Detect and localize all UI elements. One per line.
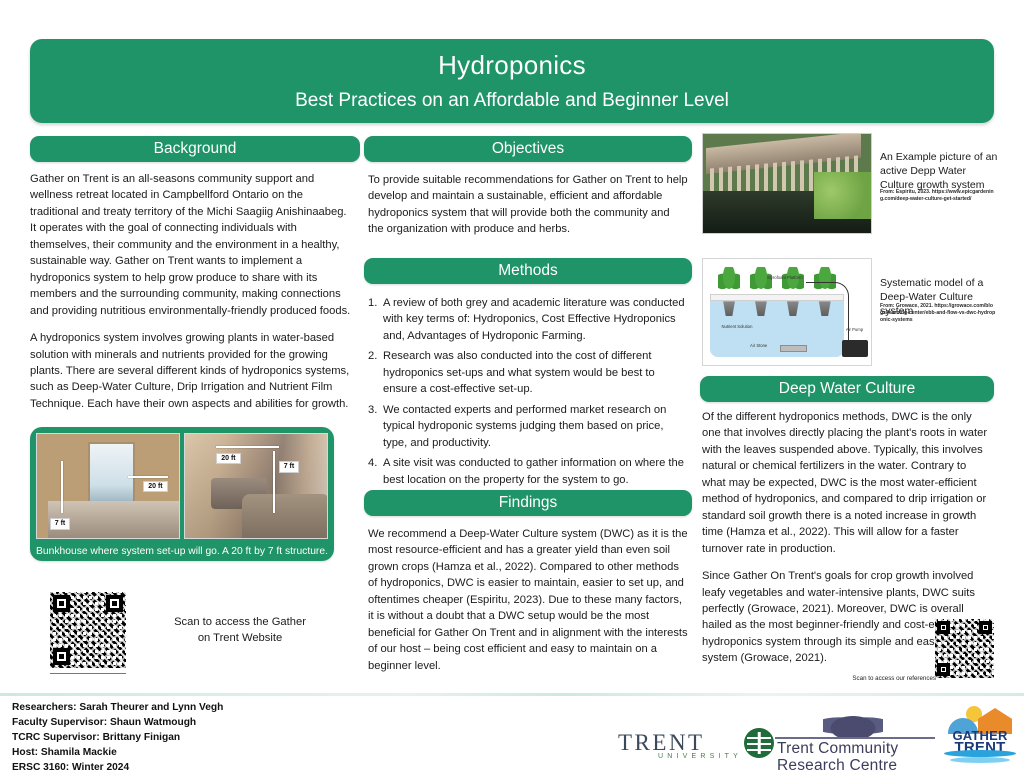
dimension-arrow-right-width: [216, 446, 278, 448]
methods-list-item: 1. A review of both grey and academic li…: [368, 295, 690, 344]
tcrc-divider: [775, 737, 935, 739]
methods-item-number: 1.: [368, 295, 377, 311]
poster-title-banner: Hydroponics Best Practices on an Afforda…: [30, 39, 994, 123]
methods-item-text: We contacted experts and performed marke…: [383, 404, 666, 449]
section-header-methods: Methods: [364, 258, 692, 284]
qr-website-label-line2: on Trent Website: [160, 630, 320, 646]
dimension-arrow-left-width: [128, 476, 168, 478]
objectives-paragraph-1: To provide suitable recommendations for …: [368, 172, 688, 238]
section-header-findings: Findings: [364, 490, 692, 516]
dwc-diagram-citation: From: Growace, 2021. https://growace.com…: [880, 303, 996, 324]
dimension-label-left-width: 20 ft: [143, 481, 167, 493]
dwc-diagram-label-platform: Styrofoam Platform: [767, 276, 804, 281]
dwc-diagram-air-stone: [780, 345, 807, 352]
dwc-diagram-plant: [750, 267, 772, 299]
bunkhouse-photo-left: 7 ft 20 ft: [36, 433, 180, 539]
qr-eye-top-left: [937, 621, 950, 634]
bunkhouse-figure: 7 ft 20 ft 20 ft 7 ft Bunkhouse where sy…: [30, 427, 334, 561]
dwc-diagram-label-solution: Nutrient Solution: [721, 325, 752, 330]
dwc-diagram-air-pump: [842, 340, 867, 357]
background-paragraph-1: Gather on Trent is an all-seasons commun…: [30, 171, 352, 319]
dwc-photo-seedlings: [814, 172, 871, 220]
section-header-background: Background: [30, 136, 360, 162]
methods-item-number: 4.: [368, 455, 377, 471]
dwc-diagram-label-stone: Air Stone: [750, 344, 767, 349]
dwc-diagram-plant: [718, 267, 740, 299]
qr-website-label-line1: Scan to access the Gather: [160, 614, 320, 630]
dimension-label-left-height: 7 ft: [50, 518, 71, 530]
section-header-findings-label: Findings: [499, 494, 558, 512]
dimension-arrow-left-height: [61, 461, 63, 513]
qr-code-references[interactable]: [935, 619, 994, 678]
qr-eye-top-right: [106, 595, 123, 612]
section-header-objectives: Objectives: [364, 136, 692, 162]
findings-paragraph-1: We recommend a Deep-Water Culture system…: [368, 526, 690, 674]
methods-item-number: 3.: [368, 402, 377, 418]
gather-wave-icon-1: [944, 750, 1016, 757]
dimension-label-right-width: 20 ft: [216, 453, 240, 465]
methods-item-number: 2.: [368, 348, 377, 364]
dwc-diagram-image: Styrofoam Platform Nutrient Solution Air…: [702, 258, 872, 366]
background-paragraph-2: A hydroponics system involves growing pl…: [30, 330, 352, 412]
dwc-photo-citation: From: Espiritu, 2023. https://www.epicga…: [880, 189, 996, 203]
dwc-diagram-plant: [782, 267, 804, 299]
trent-university-logo: TRENT UNIVERSITY: [618, 726, 778, 766]
dwc-photo-image: [702, 133, 872, 234]
tcrc-logo-line2: Research Centre: [777, 757, 897, 775]
methods-list-item: 3. We contacted experts and performed ma…: [368, 402, 690, 451]
bunkhouse-photos: 7 ft 20 ft 20 ft 7 ft: [36, 433, 328, 539]
dwc-diagram-label-pump: Air Pump: [846, 328, 868, 333]
methods-list-item: 2. Research was also conducted into the …: [368, 348, 690, 397]
methods-body: 1. A review of both grey and academic li…: [368, 295, 690, 492]
qr-eye-top-left: [53, 595, 70, 612]
footer-credit-line: Host: Shamila Mackie: [12, 745, 223, 760]
footer-credits: Researchers: Sarah Theurer and Lynn Vegh…: [12, 700, 223, 775]
qr-eye-top-right: [979, 621, 992, 634]
section-header-deep-water-culture-label: Deep Water Culture: [779, 380, 915, 398]
page-subtitle: Best Practices on an Affordable and Begi…: [295, 90, 729, 112]
methods-list: 1. A review of both grey and academic li…: [368, 295, 690, 488]
section-header-objectives-label: Objectives: [492, 140, 564, 158]
footer-credit-line: Researchers: Sarah Theurer and Lynn Vegh: [12, 700, 223, 715]
qr-website-label: Scan to access the Gather on Trent Websi…: [160, 614, 320, 646]
page-title: Hydroponics: [438, 51, 586, 81]
dimension-arrow-right-height: [273, 451, 275, 513]
dwc-photo-caption: An Example picture of an active Depp Wat…: [880, 150, 998, 193]
tcrc-logo-line1: Trent Community: [777, 740, 898, 758]
trent-logo-subtext: UNIVERSITY: [658, 753, 742, 760]
qr-eye-bottom-left: [53, 648, 70, 665]
section-header-background-label: Background: [154, 140, 237, 158]
qr-website-underline: [50, 673, 126, 674]
objectives-body: To provide suitable recommendations for …: [368, 172, 688, 238]
tcrc-tree-icon: [823, 712, 883, 738]
bunkhouse-photo-right: 20 ft 7 ft: [184, 433, 328, 539]
qr-eye-bottom-left: [937, 663, 950, 676]
methods-item-text: A site visit was conducted to gather inf…: [383, 457, 684, 485]
dwc-diagram-air-tube: [806, 282, 850, 346]
section-header-methods-label: Methods: [498, 262, 557, 280]
gather-on-trent-logo: GATHER TRENT: [944, 706, 1016, 768]
methods-item-text: Research was also conducted into the cos…: [383, 350, 655, 395]
gather-wave-icon-2: [950, 757, 1010, 763]
dwc-paragraph-1: Of the different hydroponics methods, DW…: [702, 409, 992, 557]
findings-body: We recommend a Deep-Water Culture system…: [368, 526, 690, 674]
footer-credit-line: Faculty Supervisor: Shaun Watmough: [12, 715, 223, 730]
qr-references-label: Scan to access our references: [836, 675, 936, 684]
section-header-deep-water-culture: Deep Water Culture: [700, 376, 994, 402]
qr-code-website[interactable]: [50, 592, 126, 668]
trent-community-research-centre-logo: Trent Community Research Centre: [775, 712, 935, 768]
methods-list-item: 4. A site visit was conducted to gather …: [368, 455, 690, 488]
bunkhouse-caption: Bunkhouse where system set-up will go. A…: [30, 546, 334, 557]
footer-credit-line: ERSC 3160: Winter 2024: [12, 760, 223, 775]
methods-item-text: A review of both grey and academic liter…: [383, 297, 685, 342]
dimension-label-right-height: 7 ft: [279, 461, 300, 473]
poster-root: Hydroponics Best Practices on an Afforda…: [0, 0, 1024, 784]
background-body: Gather on Trent is an all-seasons commun…: [30, 171, 352, 412]
footer-credit-line: TCRC Supervisor: Brittany Finigan: [12, 730, 223, 745]
trent-tree-icon: [744, 728, 774, 758]
footer-divider: [0, 693, 1024, 696]
